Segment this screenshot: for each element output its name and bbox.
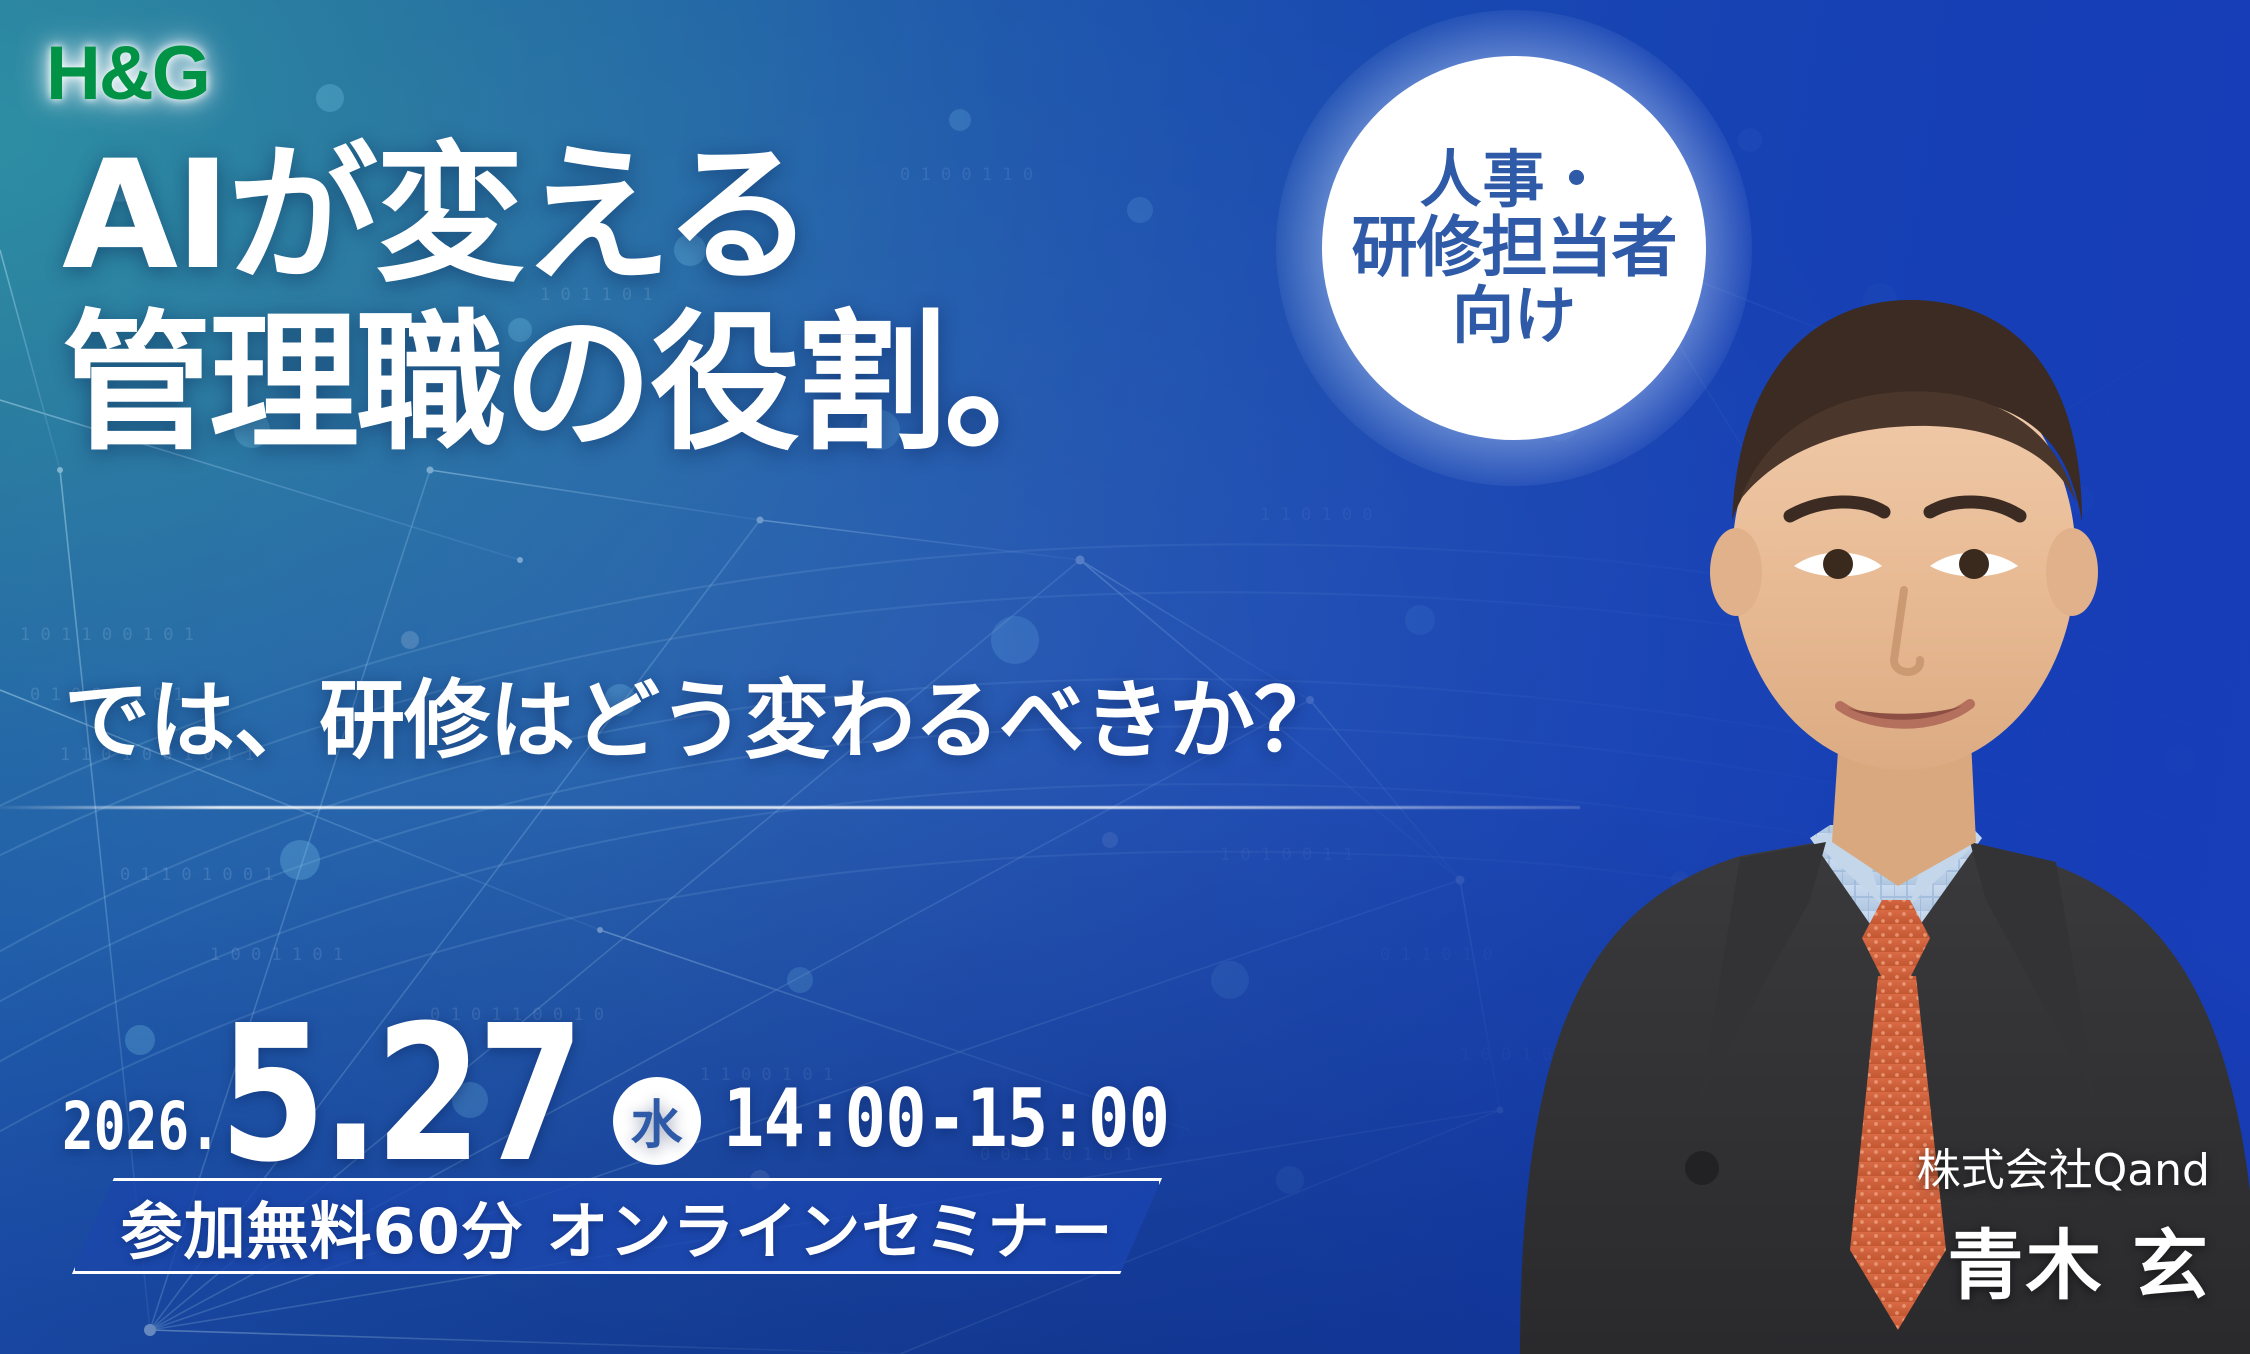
event-year: 2026.: [62, 1088, 221, 1165]
event-day-of-week-badge: 水: [613, 1077, 701, 1165]
event-info-ribbon: 参加無料60分 オンラインセミナー: [72, 1178, 1162, 1274]
headline-block: AIが変える 管理職の役割。: [62, 132, 1312, 468]
webinar-banner: 1 0 1 1 0 0 1 0 1 0 1 0 0 1 1 0 1 1 1 0 …: [0, 0, 2250, 1354]
speaker-credit: 株式会社Qand 青木 玄: [1917, 1134, 2210, 1314]
hg-logo: H&G: [46, 30, 209, 117]
event-date: 5.27: [219, 1022, 580, 1169]
headline-subtitle: では、研修はどう変わるべきか？: [64, 650, 1339, 775]
event-date-block: 2026. 5.27 水 14:00-15:00: [62, 1022, 1241, 1169]
headline-line-2: 管理職の役割。: [62, 300, 1312, 468]
speaker-name: 青木 玄: [1917, 1204, 2210, 1314]
headline-line-1: AIが変える: [62, 132, 1312, 300]
event-time: 14:00-15:00: [723, 1072, 1169, 1165]
speaker-company: 株式会社Qand: [1917, 1134, 2210, 1198]
ribbon-label: 参加無料60分 オンラインセミナー: [72, 1178, 1162, 1274]
